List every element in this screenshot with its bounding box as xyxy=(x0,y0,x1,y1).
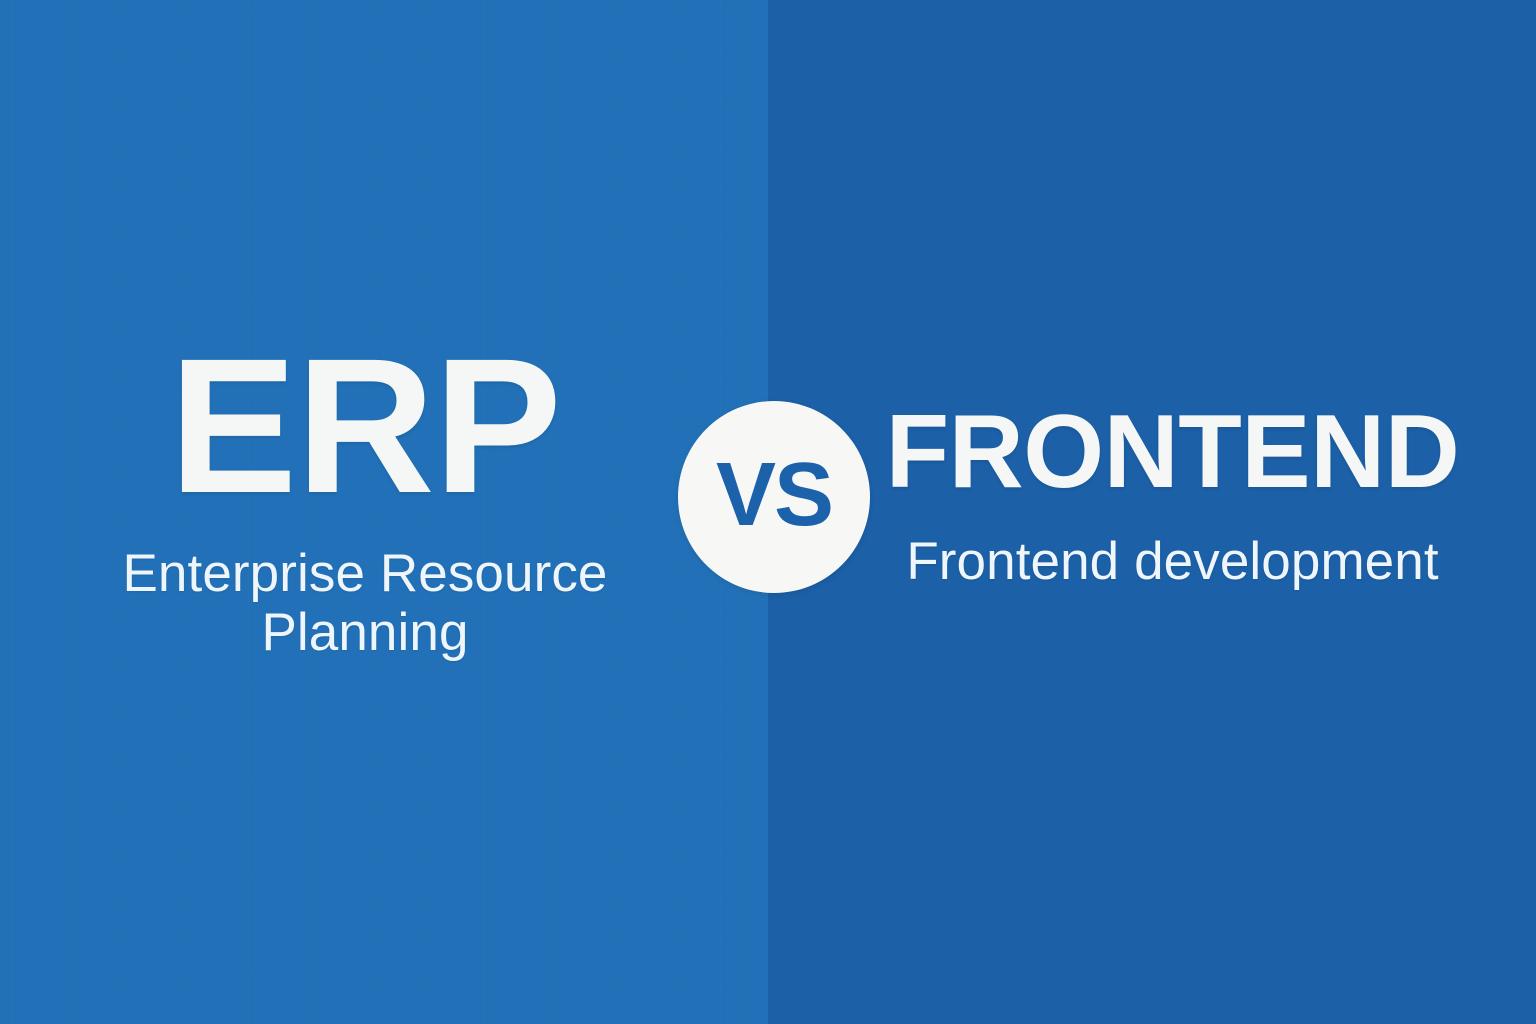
vs-label: VS xyxy=(716,450,832,540)
right-subtitle: Frontend development xyxy=(880,532,1465,591)
left-title: ERP xyxy=(40,330,690,522)
vs-badge: VS xyxy=(678,401,870,593)
left-content-group: ERP Enterprise Resource Planning xyxy=(40,330,690,663)
left-subtitle: Enterprise Resource Planning xyxy=(40,544,690,663)
comparison-banner: ERP Enterprise Resource Planning VS FRON… xyxy=(0,0,1536,1024)
right-title: FRONTEND xyxy=(880,400,1465,504)
right-content-group: FRONTEND Frontend development xyxy=(880,400,1465,591)
